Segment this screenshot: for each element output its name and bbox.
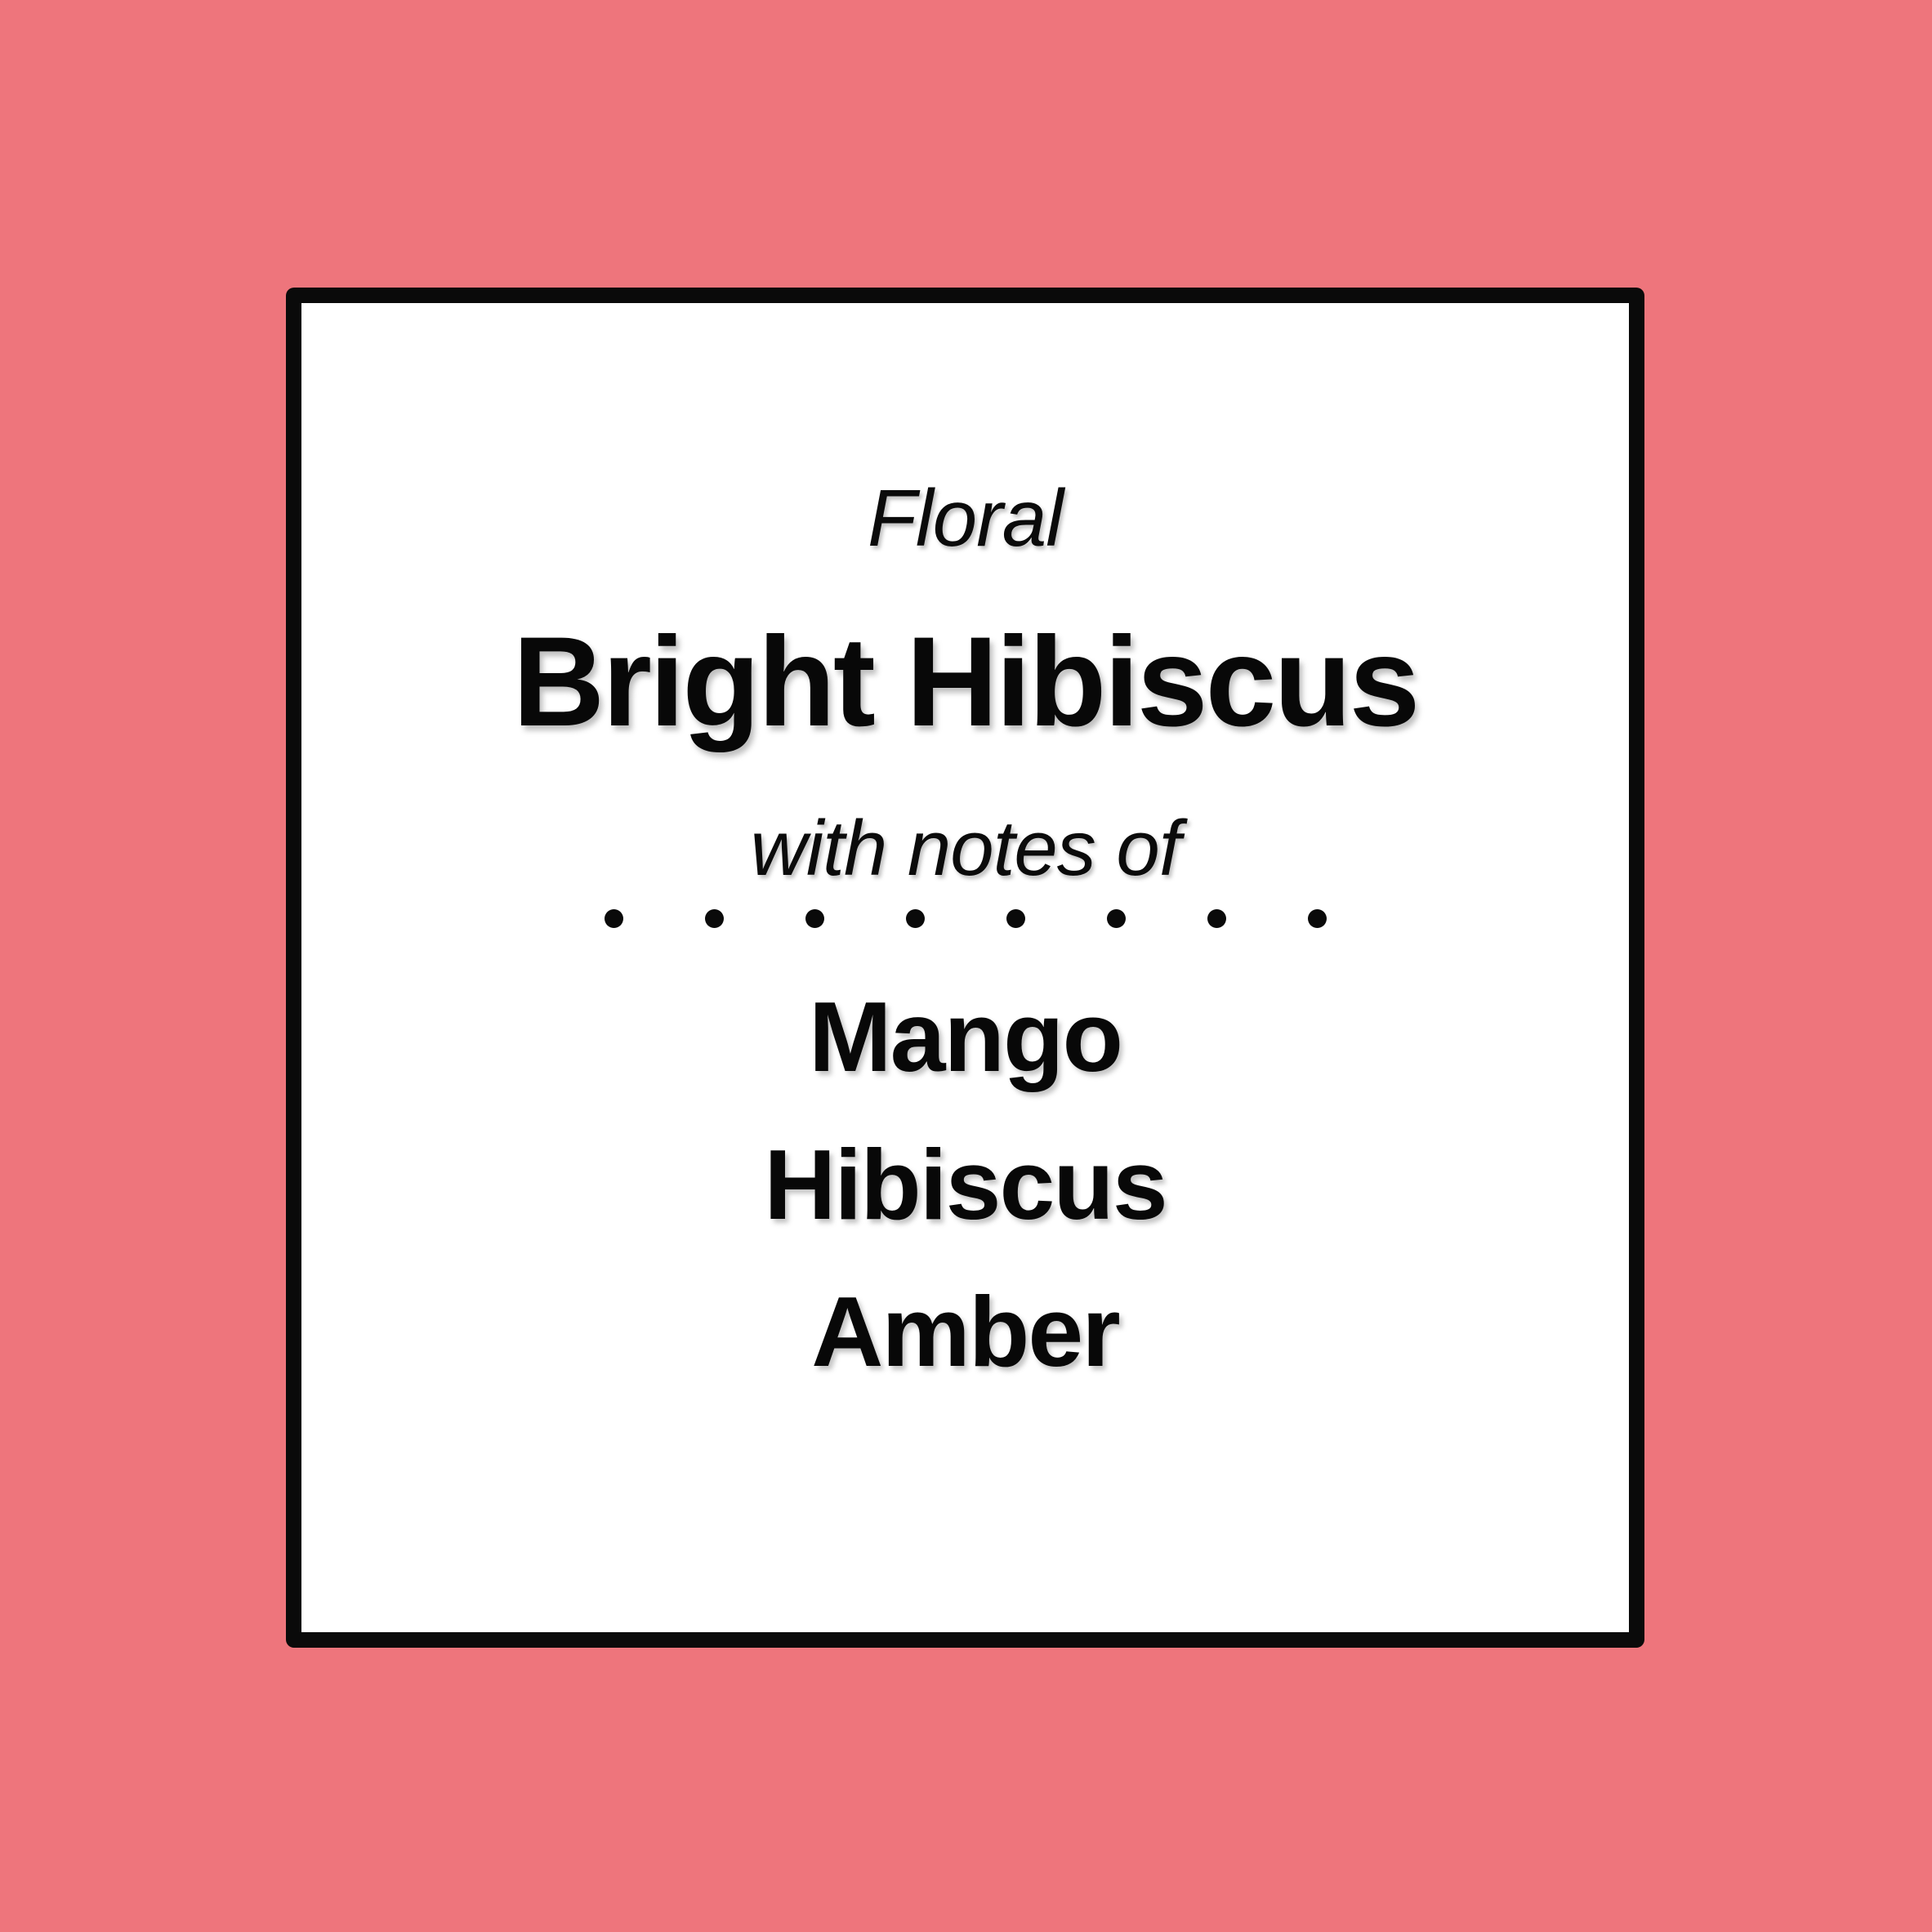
scent-card: Floral Bright Hibiscus with notes of Man… [286, 288, 1644, 1648]
divider-dot-icon [906, 909, 925, 928]
divider-dot-icon [605, 909, 623, 928]
note-item: Amber [811, 1258, 1118, 1406]
divider-dot-icon [1107, 909, 1126, 928]
dot-divider [605, 908, 1327, 929]
notes-list: MangoHibiscusAmber [764, 963, 1167, 1406]
divider-dot-icon [1207, 909, 1226, 928]
divider-dot-icon [805, 909, 824, 928]
note-item: Mango [809, 963, 1122, 1111]
divider-dot-icon [705, 909, 724, 928]
scent-card-content: Floral Bright Hibiscus with notes of Man… [301, 303, 1629, 1632]
divider-dot-icon [1308, 909, 1327, 928]
scent-family-label: Floral [868, 478, 1063, 558]
scent-name-title: Bright Hibiscus [513, 618, 1418, 746]
divider-dot-icon [1006, 909, 1025, 928]
notes-intro-label: with notes of [751, 810, 1180, 888]
note-item: Hibiscus [764, 1111, 1167, 1259]
